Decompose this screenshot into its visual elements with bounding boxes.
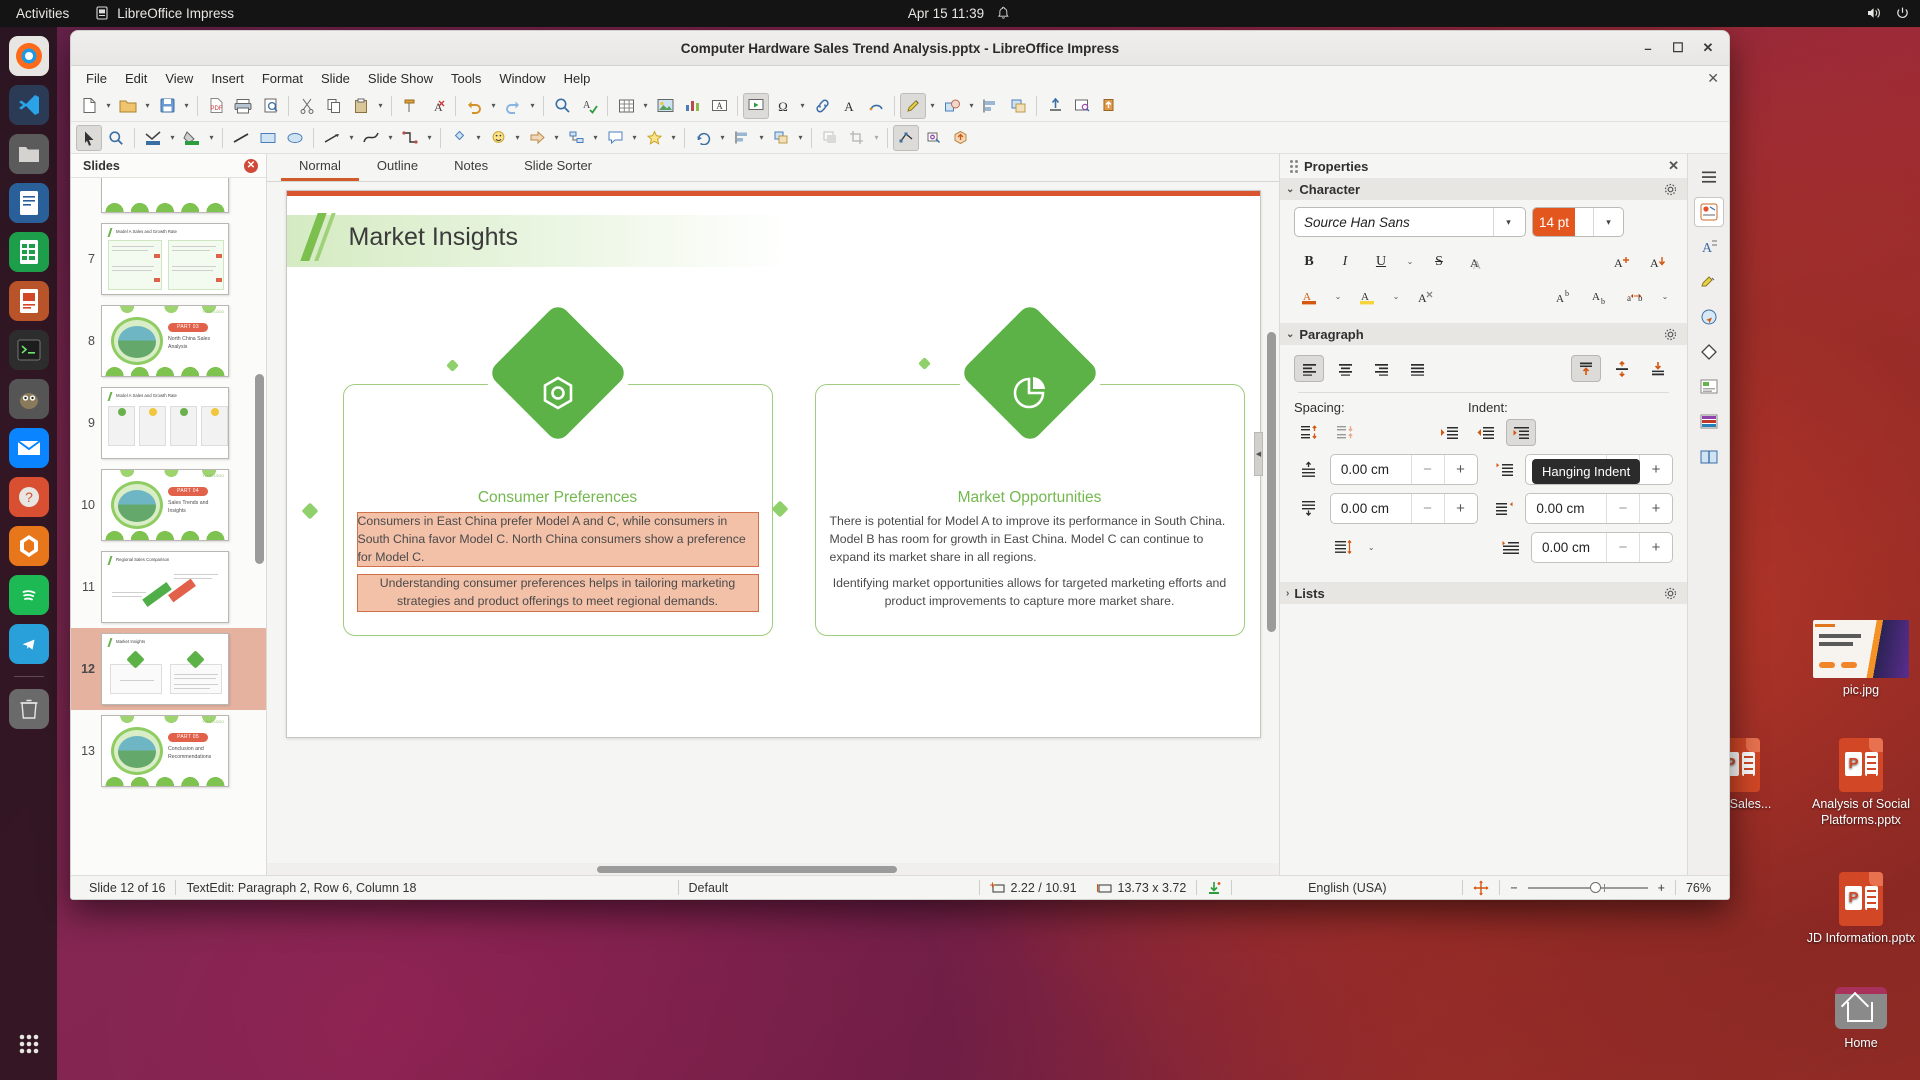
- list-item-selected[interactable]: 12 Market Insights: [71, 628, 266, 710]
- right-card-paragraph-2[interactable]: Identifying market opportunities allows …: [830, 575, 1230, 611]
- clear-formatting-button[interactable]: A: [1410, 283, 1440, 310]
- decrease-font-size-button[interactable]: A: [1643, 248, 1673, 275]
- block-arrows-caret-icon[interactable]: ▾: [551, 125, 562, 151]
- highlight-color-button[interactable]: A: [1352, 283, 1382, 310]
- slide-thumbnail[interactable]: [101, 178, 229, 213]
- arrange-objects-icon[interactable]: [768, 125, 794, 151]
- spacing-below-paragraph-icon: [1294, 495, 1324, 522]
- menu-help[interactable]: Help: [555, 69, 600, 88]
- telegram-icon[interactable]: [9, 624, 49, 664]
- gimp-icon[interactable]: [9, 379, 49, 419]
- properties-sidebar[interactable]: Properties ✕ ⌄ Character ▾ 14 pt ▾: [1279, 154, 1687, 875]
- ellipse-icon[interactable]: [282, 125, 308, 151]
- spacing-above-row[interactable]: 0.00 cm − + 0.00 cm − + Hanging Indent: [1280, 452, 1687, 489]
- copy-icon[interactable]: [321, 93, 347, 119]
- menu-edit[interactable]: Edit: [116, 69, 156, 88]
- curves-polygons-icon[interactable]: [358, 125, 384, 151]
- line-spacing-row[interactable]: ⌄ 0.00 cm − +: [1280, 528, 1687, 570]
- gear-icon[interactable]: [1664, 183, 1677, 196]
- activities-button[interactable]: Activities: [0, 6, 83, 21]
- cut-icon[interactable]: [294, 93, 320, 119]
- align-center-button[interactable]: [1330, 355, 1360, 382]
- curves-caret-icon[interactable]: ▾: [385, 125, 396, 151]
- svg-text:a: a: [1627, 293, 1631, 303]
- master-slide-icon[interactable]: [1069, 93, 1095, 119]
- minimize-button[interactable]: –: [1635, 36, 1661, 60]
- close-document-icon[interactable]: ✕: [1707, 70, 1719, 87]
- callouts-caret-icon[interactable]: ▾: [629, 125, 640, 151]
- align-right-button[interactable]: [1366, 355, 1396, 382]
- after-text-indent-value[interactable]: 0.00 cm: [1526, 501, 1606, 516]
- paragraph-section-header[interactable]: ⌄ Paragraph: [1280, 323, 1687, 345]
- slide-thumbnail[interactable]: Regional Sales Comparison: [101, 551, 229, 623]
- svg-text:A: A: [583, 100, 591, 111]
- chevron-right-icon[interactable]: ›: [1286, 588, 1289, 599]
- font-row[interactable]: ▾ 14 pt ▾: [1280, 200, 1687, 239]
- increment-button[interactable]: +: [1444, 455, 1477, 484]
- increment-button[interactable]: +: [1639, 455, 1672, 484]
- ubuntu-dock[interactable]: ?: [0, 27, 57, 1080]
- paste-icon[interactable]: [348, 93, 374, 119]
- redo-icon[interactable]: [500, 93, 526, 119]
- slide-canvas-area[interactable]: Market Insights Consumer Preferences Co: [267, 182, 1279, 863]
- master-slide-status[interactable]: Default: [679, 881, 979, 895]
- center-vertically-button[interactable]: [1607, 355, 1637, 382]
- chevron-down-icon[interactable]: ⌄: [1286, 184, 1294, 195]
- svg-text:b: b: [1638, 293, 1643, 303]
- clear-formatting-icon[interactable]: A: [424, 93, 450, 119]
- connectors-icon[interactable]: [397, 125, 423, 151]
- navigator-deck-icon[interactable]: [1694, 302, 1724, 332]
- menu-tools[interactable]: Tools: [442, 69, 490, 88]
- shadow-icon[interactable]: [817, 125, 843, 151]
- insert-fontwork-icon[interactable]: [863, 93, 889, 119]
- zoom-slider[interactable]: [1528, 881, 1648, 895]
- slide-canvas[interactable]: Market Insights Consumer Preferences Co: [286, 190, 1261, 738]
- shapes-caret-icon[interactable]: ▾: [966, 93, 977, 119]
- strikethrough-button[interactable]: S: [1424, 248, 1454, 275]
- writer-icon[interactable]: [9, 183, 49, 223]
- window-title: Computer Hardware Sales Trend Analysis.p…: [681, 41, 1119, 56]
- menu-format[interactable]: Format: [253, 69, 312, 88]
- lines-and-arrows-icon[interactable]: [319, 125, 345, 151]
- points-icon[interactable]: [893, 125, 919, 151]
- decrement-button[interactable]: −: [1411, 455, 1444, 484]
- decrement-button[interactable]: −: [1606, 494, 1639, 523]
- fit-slide-icon[interactable]: [1463, 880, 1499, 896]
- save-icon[interactable]: [154, 93, 180, 119]
- menu-file[interactable]: File: [77, 69, 116, 88]
- left-content-card[interactable]: Consumer Preferences Consumers in East C…: [343, 384, 773, 636]
- connectors-caret-icon[interactable]: ▾: [424, 125, 435, 151]
- font-color-button[interactable]: A: [1294, 283, 1324, 310]
- new-caret-icon[interactable]: ▾: [103, 93, 114, 119]
- sidebar-deck-rail[interactable]: A: [1687, 154, 1729, 875]
- menu-insert[interactable]: Insert: [202, 69, 253, 88]
- undo-icon[interactable]: [461, 93, 487, 119]
- decrease-paragraph-spacing-button[interactable]: [1330, 419, 1360, 446]
- symbol-shapes-icon[interactable]: [485, 125, 511, 151]
- desktop-icon-label: pic.jpg: [1806, 683, 1916, 699]
- stars-caret-icon[interactable]: ▾: [668, 125, 679, 151]
- paragraph-section-label: Paragraph: [1299, 327, 1363, 342]
- first-line-indent-input[interactable]: 0.00 cm − +: [1531, 532, 1673, 563]
- view-tabs[interactable]: Normal Outline Notes Slide Sorter: [267, 154, 1279, 182]
- dock-separator: [14, 676, 44, 677]
- block-arrows-icon[interactable]: [524, 125, 550, 151]
- character-section-header[interactable]: ⌄ Character: [1280, 178, 1687, 200]
- chevron-down-icon[interactable]: ⌄: [1657, 283, 1673, 310]
- save-caret-icon[interactable]: ▾: [181, 93, 192, 119]
- canvas-vertical-scrollbar[interactable]: [1267, 222, 1276, 692]
- list-item[interactable]: 7 Model A Sales and Growth Rate: [71, 218, 266, 300]
- insert-line-icon[interactable]: [228, 125, 254, 151]
- align-bottom-button[interactable]: [1643, 355, 1673, 382]
- clock-label: Apr 15 11:39: [908, 6, 984, 21]
- text-box-icon[interactable]: A: [706, 93, 732, 119]
- spotify-icon[interactable]: [9, 575, 49, 615]
- spacing-indent-quickbuttons[interactable]: [1280, 417, 1687, 452]
- chart-icon[interactable]: [679, 93, 705, 119]
- insert-hyperlink-icon[interactable]: [809, 93, 835, 119]
- fill-color-icon[interactable]: [179, 125, 205, 151]
- spacing-above-paragraph-icon: [1294, 456, 1324, 483]
- italic-button[interactable]: I: [1330, 248, 1360, 275]
- drag-handle-icon[interactable]: [1290, 160, 1298, 173]
- thumb-title: North China Sales Analysis: [168, 336, 226, 351]
- chevron-down-icon[interactable]: ⌄: [1330, 283, 1346, 310]
- font-name-combobox[interactable]: ▾: [1294, 207, 1526, 237]
- menu-slide[interactable]: Slide: [312, 69, 359, 88]
- svg-text:b: b: [1565, 289, 1569, 298]
- master-slides-deck-icon[interactable]: [1694, 372, 1724, 402]
- spelling-icon[interactable]: A: [576, 93, 602, 119]
- character-styles-deck-icon[interactable]: A: [1694, 232, 1724, 262]
- slide-transition-deck-icon[interactable]: [1694, 442, 1724, 472]
- list-item[interactable]: [71, 178, 266, 218]
- show-draw-functions-icon[interactable]: A: [836, 93, 862, 119]
- slide-thumbnail[interactable]: PART 03 North China Sales Analysis YOUR …: [101, 305, 229, 377]
- start-presentation-icon[interactable]: [1042, 93, 1068, 119]
- bell-icon: [997, 6, 1012, 21]
- arrange-caret-icon[interactable]: ▾: [795, 125, 806, 151]
- font-size-value[interactable]: 14 pt: [1533, 208, 1575, 236]
- slide-thumbnail[interactable]: Model A Sales and Growth Rate: [101, 387, 229, 459]
- thumb-pill: PART 04: [168, 487, 208, 496]
- tab-slide-sorter[interactable]: Slide Sorter: [506, 154, 610, 181]
- maximize-button[interactable]: ☐: [1665, 36, 1691, 60]
- increment-button[interactable]: +: [1639, 533, 1672, 562]
- shapes-deck-icon[interactable]: [1694, 337, 1724, 367]
- font-size-combobox[interactable]: 14 pt ▾: [1532, 207, 1624, 237]
- after-text-indent-icon: [1490, 495, 1520, 522]
- show-draw-toolbar-icon[interactable]: [900, 93, 926, 119]
- character-spacing-button[interactable]: ab: [1621, 283, 1651, 310]
- zoom-level[interactable]: 76%: [1676, 881, 1721, 895]
- increment-button[interactable]: +: [1639, 494, 1672, 523]
- lines-arrows-caret-icon[interactable]: ▾: [346, 125, 357, 151]
- symbol-shapes-caret-icon[interactable]: ▾: [512, 125, 523, 151]
- desktop-icon-home[interactable]: Home: [1806, 982, 1916, 1052]
- underline-button[interactable]: U: [1366, 248, 1396, 275]
- start-from-first-slide-icon[interactable]: [743, 93, 769, 119]
- glue-points-icon[interactable]: [920, 125, 946, 151]
- trash-icon[interactable]: [9, 689, 49, 729]
- chevron-down-icon[interactable]: ▾: [1493, 208, 1523, 236]
- thumb-logo: YOUR LOGO: [202, 720, 224, 724]
- alignment-row[interactable]: [1280, 345, 1687, 388]
- left-card-paragraph-1[interactable]: Consumers in East China prefer Model A a…: [358, 513, 758, 566]
- standard-toolbar[interactable]: ▾ ▾ ▾ PDF ▾ A ▾ ▾ A ▾ A Ω ▾ A: [71, 90, 1729, 122]
- left-card-paragraph-2[interactable]: Understanding consumer preferences helps…: [358, 575, 758, 611]
- tab-outline[interactable]: Outline: [359, 154, 436, 181]
- increment-button[interactable]: +: [1444, 494, 1477, 523]
- spacing-indent-labels: Spacing: Indent:: [1280, 393, 1687, 417]
- basic-shapes-icon[interactable]: [446, 125, 472, 151]
- active-app-label: LibreOffice Impress: [117, 6, 234, 21]
- slides-panel-scrollbar[interactable]: [255, 374, 264, 564]
- line-color-icon[interactable]: [140, 125, 166, 151]
- gallery-deck-icon[interactable]: [1694, 267, 1724, 297]
- ubuntu-software-icon[interactable]: [9, 526, 49, 566]
- redo-caret-icon[interactable]: ▾: [527, 93, 538, 119]
- gear-icon[interactable]: [1664, 587, 1677, 600]
- svg-text:A: A: [1418, 291, 1427, 305]
- right-content-card[interactable]: Market Opportunities There is potential …: [815, 384, 1245, 636]
- lists-section-header[interactable]: › Lists: [1280, 582, 1687, 604]
- special-char-caret-icon[interactable]: ▾: [797, 93, 808, 119]
- fill-color-caret-icon[interactable]: ▾: [206, 125, 217, 151]
- spacing-below-value[interactable]: 0.00 cm: [1331, 501, 1411, 516]
- paste-caret-icon[interactable]: ▾: [375, 93, 386, 119]
- table-icon[interactable]: [613, 93, 639, 119]
- gear-icon[interactable]: [1664, 328, 1677, 341]
- calc-icon[interactable]: [9, 232, 49, 272]
- sparkle-icon: [446, 359, 459, 372]
- decrement-button[interactable]: −: [1606, 533, 1639, 562]
- rectangle-icon[interactable]: [255, 125, 281, 151]
- subscript-button[interactable]: Ab: [1585, 283, 1615, 310]
- window-controls[interactable]: – ☐ ✕: [1635, 36, 1721, 60]
- flowchart-caret-icon[interactable]: ▾: [590, 125, 601, 151]
- slide-thumbnail[interactable]: Market Insights: [101, 633, 229, 705]
- new-icon[interactable]: [76, 93, 102, 119]
- show-apps-icon[interactable]: [9, 1024, 49, 1064]
- zoom-icon[interactable]: [103, 125, 129, 151]
- close-icon[interactable]: ✕: [244, 159, 258, 173]
- svg-text:Ω: Ω: [778, 99, 788, 114]
- find-replace-icon[interactable]: [549, 93, 575, 119]
- properties-title: Properties: [1304, 159, 1662, 174]
- sidebar-collapse-handle[interactable]: ◀: [1254, 432, 1263, 476]
- increase-indent-button[interactable]: [1434, 419, 1464, 446]
- font-name-input[interactable]: [1295, 208, 1493, 236]
- stars-icon[interactable]: [641, 125, 667, 151]
- tab-notes[interactable]: Notes: [436, 154, 506, 181]
- line-spacing-button[interactable]: [1329, 534, 1358, 561]
- save-status-icon[interactable]: [1197, 881, 1231, 895]
- decrease-indent-button[interactable]: [1470, 419, 1500, 446]
- crop-caret-icon[interactable]: ▾: [871, 125, 882, 151]
- list-item[interactable]: 9 Model A Sales and Growth Rate: [71, 382, 266, 464]
- select-icon[interactable]: [76, 125, 102, 151]
- svg-text:A: A: [1702, 241, 1713, 256]
- table-caret-icon[interactable]: ▾: [640, 93, 651, 119]
- callouts-icon[interactable]: [602, 125, 628, 151]
- menu-bar[interactable]: File Edit View Insert Format Slide Slide…: [71, 66, 1729, 90]
- impress-icon[interactable]: [9, 281, 49, 321]
- tab-normal[interactable]: Normal: [281, 154, 359, 181]
- firefox-icon[interactable]: [9, 36, 49, 76]
- list-item[interactable]: 10 PART 04 Sales Trends and Insights YOU…: [71, 464, 266, 546]
- desktop-icon-label: Analysis of Social Platforms.pptx: [1806, 797, 1916, 828]
- spacing-above-value[interactable]: 0.00 cm: [1331, 462, 1411, 477]
- window-titlebar[interactable]: Computer Hardware Sales Trend Analysis.p…: [71, 31, 1729, 66]
- spacing-above-input[interactable]: 0.00 cm − +: [1330, 454, 1478, 485]
- thumb-title: Sales Trends and Insights: [168, 500, 226, 515]
- open-caret-icon[interactable]: ▾: [142, 93, 153, 119]
- align-icon[interactable]: [729, 125, 755, 151]
- language-status[interactable]: English (USA): [1232, 881, 1462, 895]
- shadow-button[interactable]: AA: [1460, 248, 1490, 275]
- justify-button[interactable]: [1402, 355, 1432, 382]
- clock[interactable]: Apr 15 11:39: [908, 6, 1012, 21]
- arrange-icon[interactable]: [1005, 93, 1031, 119]
- crop-icon[interactable]: [844, 125, 870, 151]
- rotate-icon[interactable]: [690, 125, 716, 151]
- right-card-paragraph-1[interactable]: There is potential for Model A to improv…: [830, 513, 1230, 566]
- sparkle-icon: [771, 501, 788, 518]
- chevron-down-icon[interactable]: ▾: [1593, 208, 1623, 236]
- rotate-caret-icon[interactable]: ▾: [717, 125, 728, 151]
- vscode-icon[interactable]: [9, 85, 49, 125]
- shapes-icon[interactable]: [939, 93, 965, 119]
- align-top-button[interactable]: [1571, 355, 1601, 382]
- decrement-button[interactable]: −: [1411, 494, 1444, 523]
- close-icon[interactable]: ✕: [1668, 158, 1679, 174]
- increase-font-size-button[interactable]: A: [1607, 248, 1637, 275]
- active-app-indicator[interactable]: LibreOffice Impress: [83, 6, 246, 21]
- align-caret-icon[interactable]: ▾: [756, 125, 767, 151]
- thunderbird-icon[interactable]: [9, 428, 49, 468]
- drawing-toolbar[interactable]: ▾ ▾ ▾ ▾ ▾ ▾ ▾ ▾ ▾ ▾ ▾ ▾ ▾ ▾ ▾: [71, 122, 1729, 154]
- insert-special-char-icon[interactable]: Ω: [770, 93, 796, 119]
- thumb-pill: PART 03: [168, 323, 208, 332]
- before-text-indent-icon: [1490, 456, 1520, 483]
- image-icon[interactable]: [652, 93, 678, 119]
- line-color-caret-icon[interactable]: ▾: [167, 125, 178, 151]
- slide-thumbnail[interactable]: Model A Sales and Growth Rate: [101, 223, 229, 295]
- chevron-down-icon[interactable]: ⌄: [1364, 534, 1379, 561]
- desktop-icon-analysis-social-platforms[interactable]: P Analysis of Social Platforms.pptx: [1806, 738, 1916, 828]
- object-size-status: 13.73 x 3.72: [1087, 881, 1197, 895]
- text-edit-status: TextEdit: Paragraph 2, Row 6, Column 18: [176, 881, 426, 895]
- slide-title: Market Insights: [349, 223, 519, 252]
- desktop-icon-jd-information[interactable]: P JD Information.pptx: [1806, 872, 1916, 947]
- first-line-indent-value[interactable]: 0.00 cm: [1532, 540, 1606, 555]
- system-tray[interactable]: [1866, 6, 1910, 21]
- insert-slide-icon[interactable]: [1096, 93, 1122, 119]
- svg-text:A: A: [844, 99, 854, 114]
- slide-thumbnail[interactable]: PART 05 Conclusion and Recommendations Y…: [101, 715, 229, 787]
- after-text-indent-input[interactable]: 0.00 cm − +: [1525, 493, 1673, 524]
- properties-header: Properties ✕: [1280, 154, 1687, 178]
- power-icon[interactable]: [1895, 6, 1910, 21]
- print-preview-icon[interactable]: [257, 93, 283, 119]
- desktop-icon-pic[interactable]: pic.jpg: [1806, 620, 1916, 699]
- export-pdf-icon[interactable]: PDF: [203, 93, 229, 119]
- svg-text:A: A: [716, 101, 723, 111]
- thumb-title: Market Insights: [116, 639, 145, 644]
- zoom-in-button[interactable]: +: [1648, 881, 1675, 895]
- list-item[interactable]: 11 Regional Sales Comparison: [71, 546, 266, 628]
- superscript-button[interactable]: Ab: [1549, 283, 1579, 310]
- thumb-title: Model A Sales and Growth Rate: [116, 229, 177, 234]
- sparkle-icon: [301, 503, 318, 520]
- status-bar[interactable]: Slide 12 of 16 TextEdit: Paragraph 2, Ro…: [71, 875, 1729, 899]
- files-icon[interactable]: [9, 134, 49, 174]
- close-button[interactable]: ✕: [1695, 36, 1721, 60]
- slide-thumbnail[interactable]: PART 04 Sales Trends and Insights YOUR L…: [101, 469, 229, 541]
- slide-count-status: Slide 12 of 16: [79, 881, 175, 895]
- undo-caret-icon[interactable]: ▾: [488, 93, 499, 119]
- help-icon[interactable]: ?: [9, 477, 49, 517]
- animation-deck-icon[interactable]: [1694, 407, 1724, 437]
- slide-thumbnail-list[interactable]: 7 Model A Sales and Growth Rate: [71, 178, 266, 875]
- align-objects-icon[interactable]: [978, 93, 1004, 119]
- bold-button[interactable]: B: [1294, 248, 1324, 275]
- spacing-below-input[interactable]: 0.00 cm − +: [1330, 493, 1478, 524]
- insert-3d-icon[interactable]: [947, 125, 973, 151]
- properties-deck-icon[interactable]: [1694, 197, 1724, 227]
- menu-view[interactable]: View: [156, 69, 202, 88]
- basic-shapes-caret-icon[interactable]: ▾: [473, 125, 484, 151]
- sidebar-settings-icon[interactable]: [1694, 162, 1724, 192]
- print-icon[interactable]: [230, 93, 256, 119]
- list-item[interactable]: 8 PART 03 North China Sales Analysis YOU…: [71, 300, 266, 382]
- slide-number: 9: [75, 416, 95, 430]
- zoom-out-button[interactable]: −: [1500, 881, 1527, 895]
- svg-text:?: ?: [25, 489, 33, 505]
- draw-toolbar-caret-icon[interactable]: ▾: [927, 93, 938, 119]
- gnome-top-bar: Activities LibreOffice Impress Apr 15 11…: [0, 0, 1920, 27]
- menu-window[interactable]: Window: [490, 69, 554, 88]
- hanging-indent-button[interactable]: [1506, 419, 1536, 446]
- svg-text:A: A: [434, 100, 443, 114]
- chevron-down-icon[interactable]: ⌄: [1286, 329, 1294, 340]
- character-style-row[interactable]: B I U ⌄ S AA A A: [1280, 239, 1687, 279]
- spacing-below-row[interactable]: 0.00 cm − + 0.00 cm − +: [1280, 489, 1687, 528]
- open-icon[interactable]: [115, 93, 141, 119]
- menu-slide-show[interactable]: Slide Show: [359, 69, 442, 88]
- character-color-row[interactable]: A ⌄ A ⌄ A Ab Ab ab: [1280, 279, 1687, 317]
- canvas-horizontal-scrollbar[interactable]: [267, 863, 1279, 875]
- chevron-down-icon[interactable]: ⌄: [1402, 248, 1418, 275]
- chevron-down-icon[interactable]: ⌄: [1388, 283, 1404, 310]
- list-item[interactable]: 13 PART 05 Conclusion and Recommendation…: [71, 710, 266, 792]
- slides-panel[interactable]: Slides ✕ 7 Model A Sales and Growth Rat: [71, 154, 267, 875]
- slide-number: 11: [75, 580, 95, 594]
- clone-formatting-icon[interactable]: [397, 93, 423, 119]
- slide-number: 12: [75, 662, 95, 676]
- terminal-icon[interactable]: [9, 330, 49, 370]
- indent-label: Indent:: [1468, 400, 1508, 415]
- volume-icon[interactable]: [1866, 6, 1881, 21]
- flowchart-icon[interactable]: [563, 125, 589, 151]
- increase-paragraph-spacing-button[interactable]: [1294, 419, 1324, 446]
- align-left-button[interactable]: [1294, 355, 1324, 382]
- folder-home-icon: [1835, 987, 1887, 1029]
